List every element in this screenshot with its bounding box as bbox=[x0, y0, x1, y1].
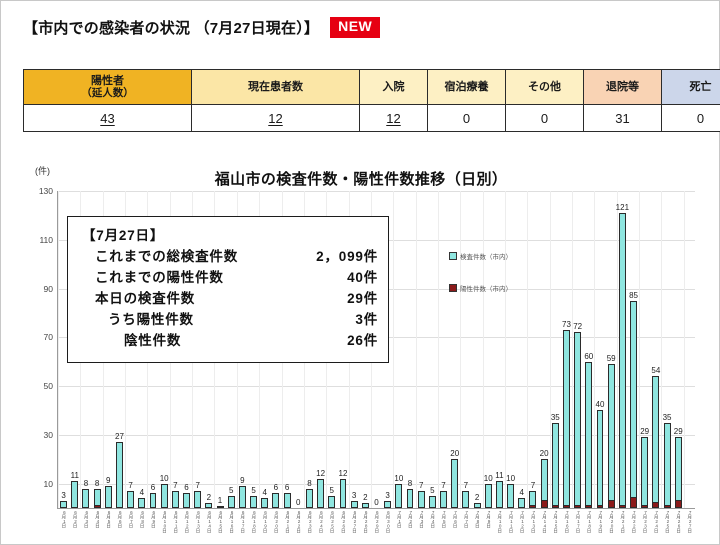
chart-x-tick: 7月18日 bbox=[587, 510, 592, 533]
chart-x-tick: 7月26日 bbox=[676, 510, 681, 533]
chart-bar-segment-positives bbox=[552, 506, 559, 508]
chart-x-tick: 7月5日 bbox=[441, 510, 446, 528]
chart-y-tick: 130 bbox=[39, 186, 53, 196]
chart-bar-segment-tests bbox=[641, 437, 648, 505]
legend-item-tests: 検査件数（市内） bbox=[449, 251, 512, 261]
chart-bar-segment-tests bbox=[161, 484, 168, 508]
chart-bar-segment-tests bbox=[664, 423, 671, 506]
info-row-label: これまでの陽性件数 bbox=[95, 268, 224, 289]
chart-bar-label: 20 bbox=[450, 449, 459, 458]
chart-x-tick: 6月18日 bbox=[251, 510, 256, 533]
chart-bar-label: 35 bbox=[663, 413, 672, 422]
chart-bar-label: 5 bbox=[430, 486, 434, 495]
chart-bar[interactable]: 57月4日 bbox=[429, 496, 436, 508]
chart-bar[interactable]: 56月25日 bbox=[328, 496, 335, 508]
chart-bar[interactable]: 27月8日 bbox=[474, 503, 481, 508]
chart-x-tick: 7月22日 bbox=[631, 510, 636, 533]
chart-bar[interactable]: 207月14日 bbox=[541, 459, 548, 508]
chart-bar[interactable]: 16月15日 bbox=[217, 506, 224, 508]
legend-item-positives: 陽性件数（市内） bbox=[449, 283, 512, 293]
chart-bar-label: 7 bbox=[419, 481, 423, 490]
chart-x-tick: 7月14日 bbox=[542, 510, 547, 533]
chart-bar-segment-positives bbox=[641, 506, 648, 508]
chart-x-tick: 6月24日 bbox=[318, 510, 323, 533]
chart-x-tick: 7月8日 bbox=[475, 510, 480, 528]
chart-bar-label: 10 bbox=[484, 474, 493, 483]
chart-bar-segment-positives bbox=[675, 501, 682, 508]
chart-bar-label: 5 bbox=[251, 486, 255, 495]
chart-x-tick: 6月7日 bbox=[128, 510, 133, 528]
chart-bar[interactable]: 46月19日 bbox=[261, 498, 268, 508]
chart-x-tick: 7月15日 bbox=[553, 510, 558, 533]
summary-table-wrapper: 陽性者 （延人数） 現在患者数 入院 宿泊療養 その他 退院等 死亡 43 12… bbox=[23, 69, 699, 132]
chart-bar[interactable]: 56月16日 bbox=[228, 496, 235, 508]
header-hospitalized: 入院 bbox=[360, 70, 428, 105]
chart-bar-segment-tests bbox=[217, 506, 224, 508]
value-positive-total: 43 bbox=[24, 105, 192, 132]
chart-bar-segment-tests bbox=[619, 213, 626, 506]
chart-bar[interactable]: 357月15日 bbox=[552, 423, 559, 508]
chart-bar-label: 8 bbox=[84, 479, 88, 488]
chart-x-tick: 6月20日 bbox=[274, 510, 279, 533]
chart-bar-segment-tests bbox=[462, 491, 469, 508]
chart-bar[interactable]: 06月29日 bbox=[373, 508, 380, 509]
legend-swatch-positives-icon bbox=[449, 284, 457, 292]
chart-bar-segment-tests bbox=[507, 484, 514, 508]
chart-bar-segment-positives bbox=[652, 503, 659, 508]
value-other: 0 bbox=[506, 105, 584, 132]
chart-x-tick: 7月2日 bbox=[408, 510, 413, 528]
chart-x-tick: 7月6日 bbox=[452, 510, 457, 528]
chart-x-tick: 6月29日 bbox=[374, 510, 379, 533]
chart-bar-label: 2 bbox=[207, 493, 211, 502]
chart-bar-segment-tests bbox=[529, 491, 536, 506]
chart-bar-label: 7 bbox=[464, 481, 468, 490]
value-discharged: 31 bbox=[584, 105, 662, 132]
chart-bar[interactable]: 76月7日 bbox=[127, 491, 134, 508]
chart-x-tick: 6月28日 bbox=[363, 510, 368, 533]
chart-bar-segment-tests bbox=[541, 459, 548, 500]
chart-gridline-h bbox=[58, 191, 695, 192]
chart-bar-label: 4 bbox=[140, 488, 144, 497]
chart-bar-label: 40 bbox=[596, 400, 605, 409]
chart-bar-segment-tests bbox=[362, 503, 369, 508]
chart-gridline-v bbox=[438, 191, 439, 508]
chart-legend: 検査件数（市内） 陽性件数（市内） bbox=[449, 251, 512, 315]
chart-gridline-h bbox=[58, 386, 695, 387]
chart-bar-label: 8 bbox=[408, 479, 412, 488]
chart-gridline-v bbox=[594, 191, 595, 508]
chart-x-tick: 7月10日 bbox=[497, 510, 502, 533]
chart-bar[interactable]: 96月17日 bbox=[239, 486, 246, 508]
chart-bar-segment-tests bbox=[496, 481, 503, 508]
chart-x-tick: 6月16日 bbox=[229, 510, 234, 533]
chart-x-tick: 6月4日 bbox=[95, 510, 100, 528]
info-row-spacer bbox=[194, 310, 356, 331]
info-box-row: これまでの陽性件数40件 bbox=[82, 268, 378, 289]
chart-bar-label: 7 bbox=[441, 481, 445, 490]
chart-x-tick: 6月3日 bbox=[84, 510, 89, 528]
chart-bar-segment-tests bbox=[228, 496, 235, 508]
chart-bar[interactable]: 276月6日 bbox=[116, 442, 123, 508]
header-other: その他 bbox=[506, 70, 584, 105]
chart-bar-segment-tests bbox=[194, 491, 201, 508]
header-discharged: 退院等 bbox=[584, 70, 662, 105]
chart-bar[interactable]: 106月10日 bbox=[161, 484, 168, 508]
chart-bar-label: 10 bbox=[506, 474, 515, 483]
chart-bar[interactable]: 547月24日 bbox=[652, 376, 659, 508]
chart-bar[interactable]: 46月8日 bbox=[138, 498, 145, 508]
page-header: 【市内での感染者の状況 （7月27日現在）】 NEW bbox=[23, 17, 380, 38]
chart-bar[interactable]: 7月27日 bbox=[686, 508, 693, 509]
chart-bar[interactable]: 407月19日 bbox=[597, 410, 604, 508]
chart-bar-segment-tests bbox=[328, 496, 335, 508]
chart-bar-label: 72 bbox=[573, 322, 582, 331]
chart-bar-label: 35 bbox=[551, 413, 560, 422]
chart-x-tick: 7月19日 bbox=[598, 510, 603, 533]
info-box-title: 【7月27日】 bbox=[82, 226, 378, 247]
chart-x-tick: 7月27日 bbox=[687, 510, 692, 533]
legend-label-tests: 検査件数（市内） bbox=[460, 251, 512, 261]
chart-bar[interactable]: 857月22日 bbox=[630, 301, 637, 508]
chart-bar-segment-tests bbox=[585, 362, 592, 506]
chart-bar[interactable]: 77月5日 bbox=[440, 491, 447, 508]
chart-bar-segment-tests bbox=[306, 489, 313, 509]
info-row-value: 29件 bbox=[347, 289, 378, 310]
chart-x-tick: 6月12日 bbox=[184, 510, 189, 533]
chart-x-tick: 7月12日 bbox=[519, 510, 524, 533]
chart-bar-label: 54 bbox=[651, 366, 660, 375]
info-box: 【7月27日】 これまでの総検査件数2，099件これまでの陽性件数40件本日の検… bbox=[67, 216, 389, 363]
chart-bar[interactable]: 607月18日 bbox=[585, 362, 592, 508]
table-value-row: 43 12 12 0 0 31 0 bbox=[24, 105, 720, 132]
chart-bar[interactable]: 86月4日 bbox=[94, 489, 101, 509]
chart-bar-segment-positives bbox=[585, 506, 592, 508]
chart-x-tick: 7月3日 bbox=[419, 510, 424, 528]
chart-x-tick: 6月23日 bbox=[307, 510, 312, 533]
chart-bar[interactable]: 77月3日 bbox=[418, 491, 425, 508]
chart-x-tick: 7月13日 bbox=[531, 510, 536, 533]
chart-y-tick: 90 bbox=[44, 284, 53, 294]
chart-bar[interactable]: 297月23日 bbox=[641, 437, 648, 508]
chart-gridline-v bbox=[550, 191, 551, 508]
chart-bar-segment-positives bbox=[630, 498, 637, 508]
chart-x-tick: 6月30日 bbox=[385, 510, 390, 533]
chart-gridline-v bbox=[505, 191, 506, 508]
legend-label-positives: 陽性件数（市内） bbox=[460, 283, 512, 293]
chart-bar-label: 12 bbox=[316, 469, 325, 478]
info-row-label: 陰性件数 bbox=[124, 331, 181, 352]
chart-gridline-v bbox=[58, 191, 59, 508]
table-header-row: 陽性者 （延人数） 現在患者数 入院 宿泊療養 その他 退院等 死亡 bbox=[24, 70, 720, 105]
chart-x-tick: 6月25日 bbox=[329, 510, 334, 533]
chart-bar[interactable]: 1217月21日 bbox=[619, 213, 626, 508]
chart-bar-label: 10 bbox=[160, 474, 169, 483]
chart-bar[interactable]: 107月11日 bbox=[507, 484, 514, 508]
chart-gridline-v bbox=[617, 191, 618, 508]
chart-bar[interactable]: 207月6日 bbox=[451, 459, 458, 508]
chart-bar-label: 1 bbox=[218, 496, 222, 505]
chart-x-tick: 6月26日 bbox=[341, 510, 346, 533]
chart-bar-segment-tests bbox=[261, 498, 268, 508]
header-lodging-care: 宿泊療養 bbox=[428, 70, 506, 105]
chart-x-tick: 6月2日 bbox=[72, 510, 77, 528]
chart-bar-segment-tests bbox=[418, 491, 425, 508]
chart-bar-label: 29 bbox=[674, 427, 683, 436]
chart-bar[interactable]: 77月7日 bbox=[462, 491, 469, 508]
info-row-spacer bbox=[181, 331, 347, 352]
chart-bar-segment-tests bbox=[675, 437, 682, 500]
chart-bar-label: 6 bbox=[274, 483, 278, 492]
chart-bar-label: 4 bbox=[520, 488, 524, 497]
value-hospitalized: 12 bbox=[360, 105, 428, 132]
chart-gridline-v bbox=[393, 191, 394, 508]
chart-bar[interactable]: 357月25日 bbox=[664, 423, 671, 508]
chart-x-tick: 7月16日 bbox=[564, 510, 569, 533]
chart-bar-segment-tests bbox=[485, 484, 492, 508]
chart-x-tick: 6月15日 bbox=[218, 510, 223, 533]
chart-bar-label: 29 bbox=[640, 427, 649, 436]
chart-x-tick: 7月17日 bbox=[575, 510, 580, 533]
info-row-spacer bbox=[195, 289, 347, 310]
chart-bar[interactable]: 76月11日 bbox=[172, 491, 179, 508]
chart-bar[interactable]: 26月28日 bbox=[362, 503, 369, 508]
chart-bar-segment-tests bbox=[239, 486, 246, 508]
chart-x-tick: 6月17日 bbox=[240, 510, 245, 533]
chart-bar-segment-tests bbox=[284, 493, 291, 508]
chart-bar-label: 5 bbox=[229, 486, 233, 495]
chart-x-tick: 6月21日 bbox=[285, 510, 290, 533]
chart-bar-segment-positives bbox=[94, 506, 101, 508]
chart-bar-label: 7 bbox=[128, 481, 132, 490]
chart-bar[interactable]: 26月14日 bbox=[205, 503, 212, 508]
chart-bar-segment-positives bbox=[664, 506, 671, 508]
chart-bar-label: 6 bbox=[184, 483, 188, 492]
header-death: 死亡 bbox=[662, 70, 720, 105]
chart-bar-label: 121 bbox=[616, 203, 629, 212]
info-row-value: 40件 bbox=[347, 268, 378, 289]
chart-bar-segment-tests bbox=[451, 459, 458, 508]
chart-bar-segment-tests bbox=[652, 376, 659, 503]
chart-bar[interactable]: 76月13日 bbox=[194, 491, 201, 508]
chart-x-tick: 7月1日 bbox=[397, 510, 402, 528]
chart-x-tick: 6月6日 bbox=[117, 510, 122, 528]
chart-bar-segment-tests bbox=[630, 301, 637, 499]
chart-bar[interactable]: 117月10日 bbox=[496, 481, 503, 508]
chart-bar-label: 3 bbox=[385, 491, 389, 500]
chart-y-tick: 30 bbox=[44, 430, 53, 440]
header-positive-line2: （延人数） bbox=[24, 87, 191, 99]
chart-bar-segment-tests bbox=[172, 491, 179, 508]
chart-gridline-v bbox=[416, 191, 417, 508]
chart-x-tick: 6月10日 bbox=[162, 510, 167, 533]
chart-bar-segment-tests bbox=[127, 491, 134, 508]
chart-bar[interactable]: 597月20日 bbox=[608, 364, 615, 508]
chart-bar-segment-tests bbox=[429, 496, 436, 508]
chart-x-tick: 7月20日 bbox=[609, 510, 614, 533]
chart-bar-segment-tests bbox=[250, 496, 257, 508]
chart-x-tick: 6月13日 bbox=[195, 510, 200, 533]
chart-bar[interactable]: 77月13日 bbox=[529, 491, 536, 508]
chart-bar-segment-tests bbox=[351, 501, 358, 508]
page-root: 【市内での感染者の状況 （7月27日現在）】 NEW 陽性者 （延人数） 現在患… bbox=[0, 0, 720, 545]
chart-bar-segment-tests bbox=[440, 491, 447, 508]
chart-bar[interactable]: 126月26日 bbox=[340, 479, 347, 508]
chart-bar[interactable]: 126月24日 bbox=[317, 479, 324, 508]
chart-bar[interactable]: 66月21日 bbox=[284, 493, 291, 508]
chart-x-tick: 7月21日 bbox=[620, 510, 625, 533]
chart-bar-segment-tests bbox=[94, 489, 101, 506]
chart-bar-label: 85 bbox=[629, 291, 638, 300]
chart-bar[interactable]: 107月1日 bbox=[395, 484, 402, 508]
chart-x-tick: 6月8日 bbox=[140, 510, 145, 528]
chart-bar-label: 6 bbox=[151, 483, 155, 492]
chart-bar[interactable]: 297月26日 bbox=[675, 437, 682, 508]
chart-bar[interactable]: 107月9日 bbox=[485, 484, 492, 508]
chart-bar[interactable]: 36月30日 bbox=[384, 501, 391, 508]
chart-bar[interactable]: 96月5日 bbox=[105, 486, 112, 508]
chart-x-tick: 7月9日 bbox=[486, 510, 491, 528]
info-box-rows: これまでの総検査件数2，099件これまでの陽性件数40件本日の検査件数29件うち… bbox=[82, 247, 378, 352]
info-row-value: 2，099件 bbox=[316, 247, 378, 268]
info-row-spacer bbox=[224, 268, 347, 289]
info-row-label: 本日の検査件数 bbox=[95, 289, 195, 310]
chart-bar-label: 3 bbox=[352, 491, 356, 500]
chart-bar-segment-tests bbox=[340, 479, 347, 508]
chart-bar-label: 11 bbox=[495, 471, 503, 480]
legend-swatch-tests-icon bbox=[449, 252, 457, 260]
chart-bar-label: 8 bbox=[95, 479, 99, 488]
chart-y-tick: 70 bbox=[44, 332, 53, 342]
chart-bar-segment-tests bbox=[150, 493, 157, 508]
chart-bar-segment-tests bbox=[574, 332, 581, 505]
chart-bar-label: 8 bbox=[307, 479, 311, 488]
chart-bar[interactable]: 56月18日 bbox=[250, 496, 257, 508]
chart-bar-segment-tests bbox=[474, 503, 481, 508]
value-lodging-care: 0 bbox=[428, 105, 506, 132]
chart-y-tick: 10 bbox=[44, 479, 53, 489]
chart-bar-segment-positives bbox=[563, 506, 570, 508]
chart-bar[interactable]: 36月27日 bbox=[351, 501, 358, 508]
chart-bar-segment-tests bbox=[563, 330, 570, 506]
chart-bar-label: 10 bbox=[394, 474, 403, 483]
chart-bar-label: 12 bbox=[339, 469, 348, 478]
chart-bar[interactable]: 66月20日 bbox=[272, 493, 279, 508]
header-positive-total: 陽性者 （延人数） bbox=[24, 70, 192, 105]
chart-bar[interactable]: 86月23日 bbox=[306, 489, 313, 509]
chart-bar-segment-tests bbox=[407, 489, 414, 509]
info-row-spacer bbox=[238, 247, 316, 268]
chart-title: 福山市の検査件数・陽性件数推移（日別） bbox=[1, 168, 720, 189]
chart-x-tick: 6月14日 bbox=[207, 510, 212, 533]
header-current-patients: 現在患者数 bbox=[192, 70, 360, 105]
chart-x-tick: 6月19日 bbox=[262, 510, 267, 533]
chart-bar-label: 0 bbox=[374, 498, 378, 507]
chart-bar[interactable]: 737月16日 bbox=[563, 330, 570, 508]
chart-bar-segment-tests bbox=[608, 364, 615, 501]
chart-gridline-v bbox=[527, 191, 528, 508]
chart-bar-segment-tests bbox=[552, 423, 559, 506]
value-current-patients: 12 bbox=[192, 105, 360, 132]
chart-x-tick: 7月23日 bbox=[642, 510, 647, 533]
chart-bar[interactable]: 36月1日 bbox=[60, 501, 67, 508]
chart-bar-segment-tests bbox=[518, 498, 525, 508]
chart-bar-label: 3 bbox=[61, 491, 65, 500]
chart-bar-label: 59 bbox=[607, 354, 616, 363]
info-box-row: うち陽性件数3件 bbox=[82, 310, 378, 331]
info-row-label: これまでの総検査件数 bbox=[95, 247, 238, 268]
chart-bar[interactable]: 116月2日 bbox=[71, 481, 78, 508]
chart-bar-segment-tests bbox=[71, 481, 78, 508]
info-box-row: これまでの総検査件数2，099件 bbox=[82, 247, 378, 268]
chart-bar-label: 9 bbox=[240, 476, 244, 485]
chart-bar-segment-tests bbox=[272, 493, 279, 508]
chart-bar-segment-tests bbox=[105, 486, 112, 508]
chart-gridline-v bbox=[572, 191, 573, 508]
chart-bar[interactable]: 87月2日 bbox=[407, 489, 414, 509]
chart-bar[interactable]: 47月12日 bbox=[518, 498, 525, 508]
chart-x-tick: 6月5日 bbox=[106, 510, 111, 528]
chart-bar-segment-positives bbox=[619, 506, 626, 508]
chart-x-tick: 7月24日 bbox=[654, 510, 659, 533]
chart-bar-segment-positives bbox=[608, 501, 615, 508]
chart-bar-segment-positives bbox=[529, 506, 536, 508]
chart-bar[interactable]: 06月22日 bbox=[295, 508, 302, 509]
info-box-row: 本日の検査件数29件 bbox=[82, 289, 378, 310]
chart-bar-label: 2 bbox=[363, 493, 367, 502]
chart-bar-label: 2 bbox=[475, 493, 479, 502]
page-title: 【市内での感染者の状況 （7月27日現在）】 bbox=[23, 17, 319, 38]
chart-bar-segment-tests bbox=[116, 442, 123, 508]
chart-gridline-v bbox=[483, 191, 484, 508]
chart-x-tick: 7月25日 bbox=[665, 510, 670, 533]
chart-bar-segment-tests bbox=[384, 501, 391, 508]
chart-bar-label: 7 bbox=[173, 481, 177, 490]
chart-x-tick: 6月1日 bbox=[61, 510, 66, 528]
chart-bar[interactable]: 66月9日 bbox=[150, 493, 157, 508]
new-badge: NEW bbox=[330, 17, 380, 38]
info-box-row: 陰性件数26件 bbox=[82, 331, 378, 352]
chart-bar-segment-tests bbox=[205, 503, 212, 508]
chart-gridline-v bbox=[460, 191, 461, 508]
chart-x-tick: 7月7日 bbox=[464, 510, 469, 528]
chart-bar-label: 20 bbox=[540, 449, 549, 458]
chart-bar-label: 0 bbox=[296, 498, 300, 507]
chart-y-tick: 110 bbox=[39, 235, 53, 245]
info-row-value: 3件 bbox=[355, 310, 378, 331]
chart-bar-label: 9 bbox=[106, 476, 110, 485]
chart-bar-segment-positives bbox=[597, 506, 604, 508]
chart-x-tick: 6月9日 bbox=[151, 510, 156, 528]
chart-bar-segment-tests bbox=[395, 484, 402, 508]
chart-bar[interactable]: 727月17日 bbox=[574, 332, 581, 508]
chart-bar[interactable]: 86月3日 bbox=[82, 489, 89, 509]
chart-bar[interactable]: 66月12日 bbox=[183, 493, 190, 508]
chart-bar-label: 60 bbox=[584, 352, 593, 361]
chart-gridline-v bbox=[661, 191, 662, 508]
chart-x-tick: 6月11日 bbox=[173, 510, 178, 533]
chart-bar-segment-tests bbox=[597, 410, 604, 505]
header-positive-line1: 陽性者 bbox=[24, 75, 191, 88]
chart-x-tick: 6月22日 bbox=[296, 510, 301, 533]
chart-bar-segment-tests bbox=[60, 501, 67, 508]
chart-x-tick: 7月11日 bbox=[508, 510, 513, 533]
chart-bar-label: 11 bbox=[71, 471, 79, 480]
chart-gridline-v bbox=[684, 191, 685, 508]
chart-bar-label: 7 bbox=[531, 481, 535, 490]
chart-bar-segment-positives bbox=[574, 506, 581, 508]
chart-bar-label: 7 bbox=[195, 481, 199, 490]
